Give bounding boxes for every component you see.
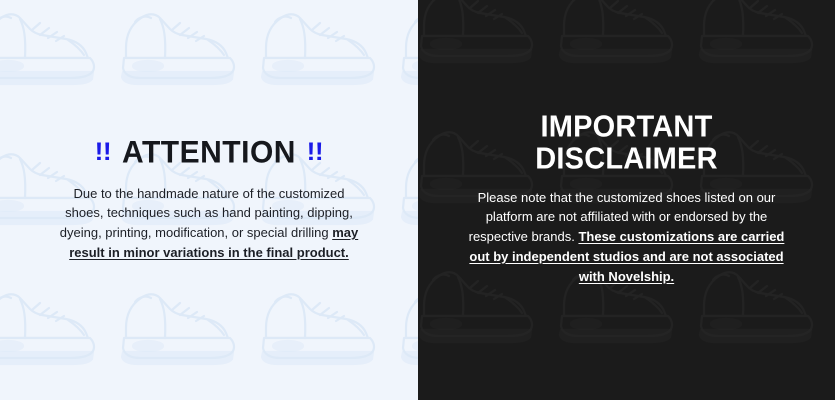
bang-left-icon: !! xyxy=(95,140,111,165)
attention-panel-content: !! ATTENTION !! Due to the handmade natu… xyxy=(0,0,418,400)
attention-body-text: Due to the handmade nature of the custom… xyxy=(59,184,359,263)
attention-body-normal: Due to the handmade nature of the custom… xyxy=(60,186,353,241)
attention-heading: !! ATTENTION !! xyxy=(95,138,322,168)
attention-panel: !! ATTENTION !! Due to the handmade natu… xyxy=(0,0,418,400)
disclaimer-panel: IMPORTANT DISCLAIMER Please note that th… xyxy=(418,0,835,400)
attention-heading-word: ATTENTION xyxy=(122,137,296,168)
disclaimer-body-text: Please note that the customized shoes li… xyxy=(466,188,788,287)
bang-right-icon: !! xyxy=(307,140,323,165)
disclaimer-heading-line-1: IMPORTANT xyxy=(535,112,717,143)
disclaimer-banner: !! ATTENTION !! Due to the handmade natu… xyxy=(0,0,835,400)
disclaimer-heading: IMPORTANT DISCLAIMER xyxy=(535,112,717,175)
disclaimer-panel-content: IMPORTANT DISCLAIMER Please note that th… xyxy=(418,0,835,400)
disclaimer-heading-line-2: DISCLAIMER xyxy=(535,143,717,174)
